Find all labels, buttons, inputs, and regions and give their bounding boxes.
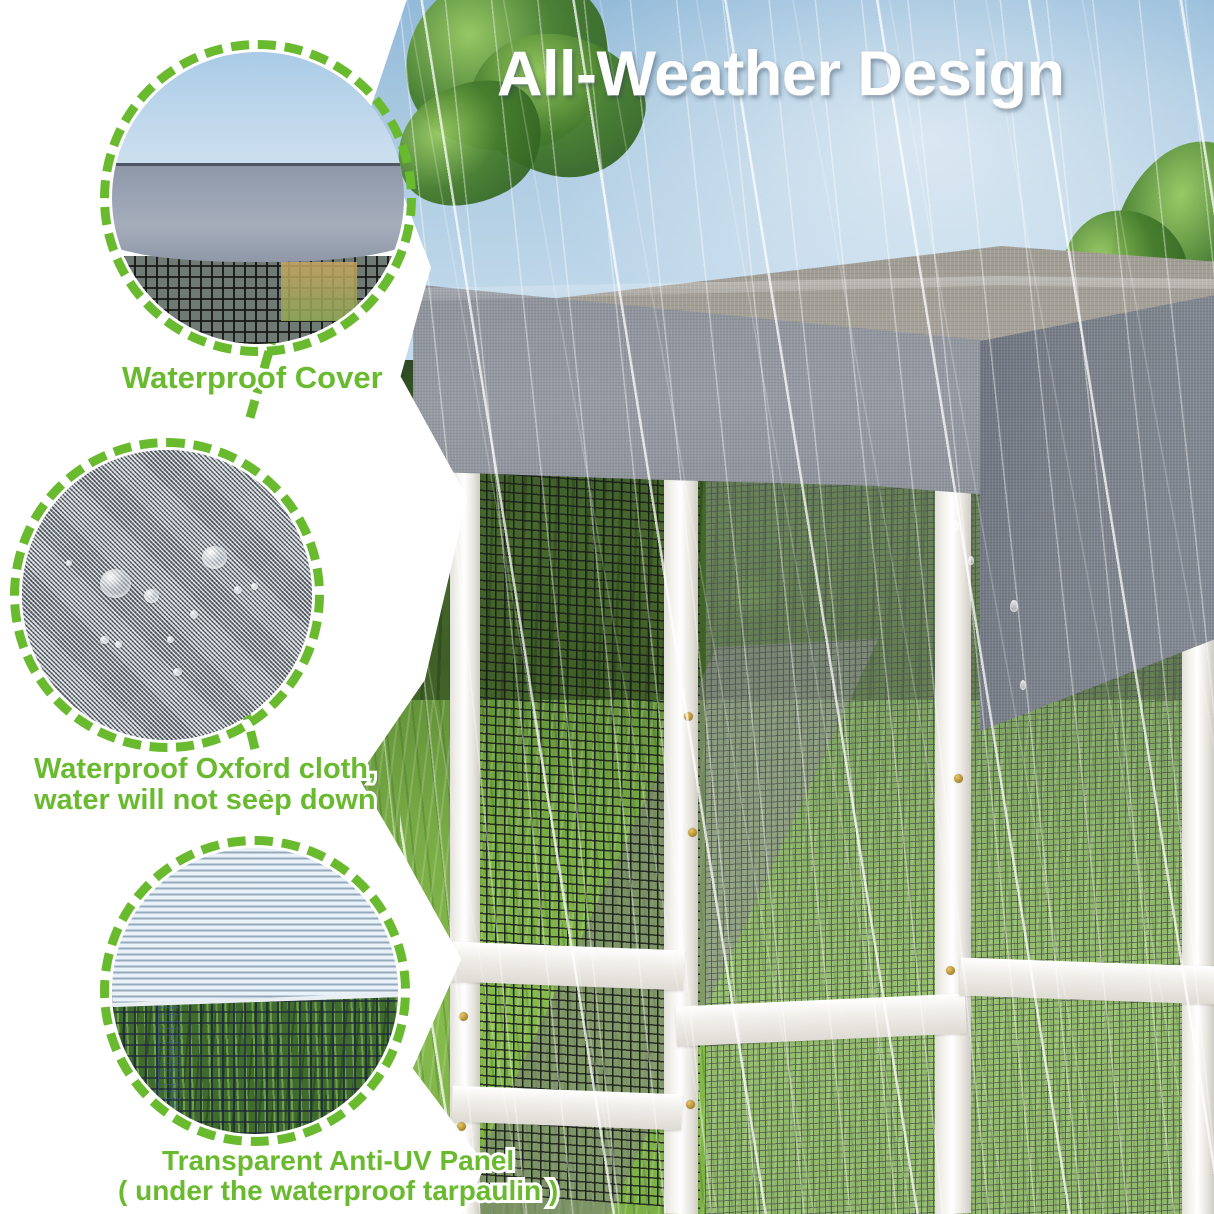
callout-label-line2: water will not seep down (34, 785, 376, 816)
callout-ring-waterproof-cover (100, 40, 416, 356)
callout-ring-oxford-cloth (10, 438, 324, 752)
brass-screw-icon (459, 1012, 468, 1021)
page-title: All-Weather Design (497, 38, 1064, 110)
callout-label-line1: Transparent Anti-UV Panel (118, 1146, 558, 1176)
brass-screw-icon (946, 966, 955, 975)
callout-label-anti-uv-panel: Transparent Anti-UV Panel ( under the wa… (118, 1146, 558, 1205)
callout-label-line1: Waterproof Oxford cloth, (34, 754, 376, 785)
water-droplet-icon (968, 556, 974, 565)
brass-screw-icon (684, 712, 693, 721)
water-droplet-icon (1020, 680, 1026, 690)
product-infographic: Waterproof Cover Waterproof Oxford cloth… (0, 0, 1214, 1214)
callout-label-line2: ( under the waterproof tarpaulin ) (118, 1176, 558, 1206)
callout-label-waterproof-cover: Waterproof Cover (122, 362, 383, 395)
frame-post (935, 469, 971, 1214)
brass-screw-icon (686, 1100, 695, 1109)
callout-label-oxford-cloth: Waterproof Oxford cloth, water will not … (34, 754, 376, 815)
water-droplet-icon (952, 520, 959, 531)
brass-screw-icon (688, 828, 697, 837)
water-droplet-icon (1010, 600, 1018, 612)
brass-screw-icon (954, 774, 963, 783)
callout-ring-anti-uv-panel (100, 836, 410, 1146)
